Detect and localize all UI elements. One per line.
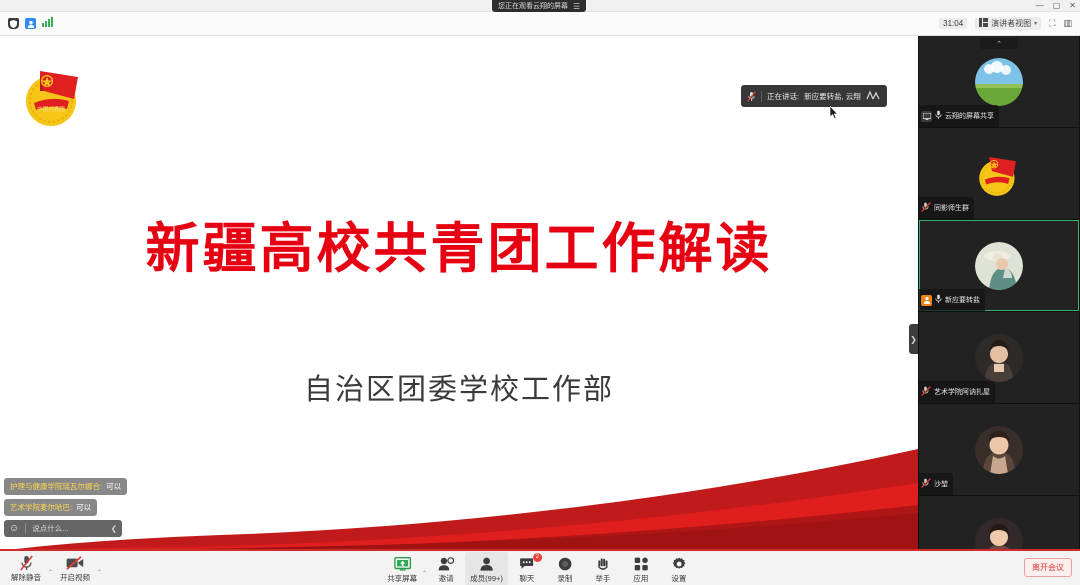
leave-meeting-button[interactable]: 离开会议 [1024, 558, 1072, 577]
control-bar-center: 共享屏幕 ⌃ 邀请 [382, 550, 698, 585]
chat-message-sender: 艺术学院麦尔哈巴: [10, 502, 72, 513]
participants-label: 成员(99+) [470, 573, 503, 584]
speaking-label: 正在讲话: [767, 91, 799, 102]
record-button[interactable]: 录制 [546, 552, 584, 585]
participant-tile[interactable]: 同影师生群 [919, 128, 1079, 219]
avatar [975, 518, 1023, 550]
chat-button[interactable]: 2 聊天 [508, 552, 546, 585]
participant-label: 沙堃 [919, 473, 953, 495]
participant-name: 新应要转盐 [945, 295, 980, 305]
window-controls: — ▢ ✕ [1036, 1, 1076, 11]
hamburger-icon[interactable]: ☰ [573, 2, 580, 11]
participant-name: 云翔的屏幕共享 [945, 111, 994, 121]
chat-unread-badge: 2 [533, 553, 542, 562]
filmstrip-collapse-handle[interactable]: ❯ [909, 324, 918, 354]
slide-subtitle: 自治区团委学校工作部 [0, 366, 918, 408]
participant-name: 沙堃 [934, 479, 948, 489]
viewing-screen-pill[interactable]: 您正在观看云翔的屏幕 ☰ [492, 0, 586, 12]
control-bar-left: 解除静音 ⌃ 开启视频 ⌃ [0, 551, 102, 585]
participant-label: 新应要转盐 [919, 289, 985, 311]
avatar [975, 334, 1023, 382]
slide-decoration-ribbon-2 [0, 461, 918, 549]
apps-grid-icon [634, 556, 648, 572]
speaker-view-icon [979, 18, 988, 29]
participant-label: 艺术学院阿讷扎屋 [919, 381, 995, 403]
video-options-chevron[interactable]: ⌃ [97, 569, 102, 585]
meeting-control-bar: 解除静音 ⌃ 开启视频 ⌃ [0, 549, 1080, 585]
participant-filmstrip[interactable]: ⌃ [918, 36, 1080, 549]
invite-button[interactable]: 邀请 [427, 552, 465, 585]
speaking-names: 新应要转盐, 云翔 [804, 91, 861, 102]
zoom-meeting-window: — ▢ ✕ 您正在观看云翔的屏幕 ☰ [0, 0, 1080, 585]
gear-icon [672, 556, 686, 572]
avatar [975, 150, 1023, 198]
chat-message: 艺术学院麦尔哈巴: 可以 [4, 499, 97, 516]
record-icon [558, 556, 572, 572]
signal-bars-icon [42, 17, 53, 30]
chat-message: 护理与健康学院瑶瓦尔娜合: 可以 [4, 478, 127, 495]
shield-icon[interactable] [8, 18, 19, 29]
start-video-label: 开启视频 [60, 572, 90, 583]
communist-youth-league-emblem: 中国共青团 [20, 61, 88, 129]
avatar [975, 426, 1023, 474]
share-screen-label: 共享屏幕 [387, 573, 417, 584]
split-view-icon[interactable]: ▥ [1063, 18, 1072, 29]
chat-message-sender: 护理与健康学院瑶瓦尔娜合: [10, 481, 102, 492]
mouse-cursor [830, 106, 839, 119]
mic-on-icon [935, 291, 942, 309]
svg-text:中国共青团: 中国共青团 [37, 105, 65, 113]
avatar [975, 242, 1023, 290]
view-mode-switch[interactable]: 演讲者视图 ▾ [975, 17, 1041, 30]
settings-label: 设置 [671, 573, 686, 584]
apps-button[interactable]: 应用 [622, 552, 660, 585]
mic-muted-icon [747, 91, 756, 102]
participant-tile[interactable]: ⌃ [919, 36, 1079, 127]
chat-expand-icon[interactable]: ❮ [111, 524, 117, 533]
view-mode-label: 演讲者视图 [991, 18, 1031, 29]
chat-overlay: 护理与健康学院瑶瓦尔娜合: 可以 艺术学院麦尔哈巴: 可以 ☺ 说点什么... … [4, 478, 127, 537]
divider [25, 523, 26, 534]
mic-muted-icon [921, 199, 931, 217]
share-screen-icon [394, 556, 411, 572]
slide-title: 新疆高校共青团工作解读 [0, 204, 918, 283]
chat-input-placeholder[interactable]: 说点什么... [32, 523, 104, 534]
people-icon[interactable] [25, 18, 36, 29]
chat-bubble-icon [519, 556, 534, 572]
viewing-screen-label: 您正在观看云翔的屏幕 [498, 1, 568, 11]
raise-hand-icon [597, 556, 609, 572]
participant-name: 同影师生群 [934, 203, 969, 213]
mic-muted-icon [20, 555, 33, 571]
participant-name: 艺术学院阿讷扎屋 [934, 387, 990, 397]
unmute-label: 解除静音 [11, 572, 41, 583]
participant-tile[interactable]: 艺术学院阿讷扎屋 [919, 312, 1079, 403]
mic-on-icon [935, 107, 942, 125]
chevron-down-icon[interactable]: ▾ [1034, 20, 1037, 27]
meeting-toolbar-right: 31:04 演讲者视图 ▾ ⛶ ▥ [939, 17, 1080, 30]
smiley-icon[interactable]: ☺ [9, 523, 19, 534]
chat-input-bar[interactable]: ☺ 说点什么... ❮ [4, 520, 122, 537]
invite-person-icon [438, 556, 454, 572]
close-button[interactable]: ✕ [1069, 1, 1076, 11]
participant-tile[interactable]: 沙堃 [919, 404, 1079, 495]
meeting-timer: 31:04 [939, 18, 967, 29]
chat-message-text: 可以 [106, 481, 121, 492]
mic-muted-icon [921, 383, 931, 401]
speaking-waveform-icon [866, 90, 880, 103]
invite-label: 邀请 [439, 573, 454, 584]
share-screen-button[interactable]: 共享屏幕 [382, 552, 422, 585]
participants-button[interactable]: 成员(99+) [465, 552, 508, 585]
raise-hand-button[interactable]: 举手 [584, 552, 622, 585]
filmstrip-scroll-up[interactable]: ⌃ [980, 38, 1018, 49]
avatar [975, 58, 1023, 106]
minimize-button[interactable]: — [1036, 1, 1044, 11]
participants-icon [479, 556, 494, 572]
meeting-toolbar-left [0, 17, 53, 30]
meeting-toolbar: 31:04 演讲者视图 ▾ ⛶ ▥ [0, 12, 1080, 36]
maximize-button[interactable]: ▢ [1053, 1, 1061, 11]
shared-screen-stage[interactable]: 中国共青团 新疆高校共青团工作解读 自治区团委学校工作部 [0, 36, 918, 549]
participant-label: 云翔的屏幕共享 [919, 105, 999, 127]
settings-button[interactable]: 设置 [660, 552, 698, 585]
record-label: 录制 [557, 573, 572, 584]
participant-tile[interactable]: 新应要转盐 [919, 220, 1079, 311]
unmute-button[interactable]: 解除静音 [6, 551, 46, 585]
participant-tile[interactable]: ⌄ [919, 496, 1079, 549]
speaking-indicator: 正在讲话: 新应要转盐, 云翔 [741, 85, 887, 107]
apps-label: 应用 [633, 573, 648, 584]
start-video-button[interactable]: 开启视频 [55, 551, 95, 585]
divider [761, 91, 762, 102]
audio-options-chevron[interactable]: ⌃ [48, 569, 53, 585]
host-icon [921, 295, 932, 306]
mic-muted-icon [921, 475, 931, 493]
presentation-slide: 中国共青团 新疆高校共青团工作解读 自治区团委学校工作部 [0, 36, 918, 549]
video-off-icon [66, 555, 84, 571]
raise-hand-label: 举手 [595, 573, 610, 584]
fullscreen-icon[interactable]: ⛶ [1049, 18, 1055, 29]
screen-share-icon [921, 111, 932, 122]
participant-label: 同影师生群 [919, 197, 974, 219]
chat-label: 聊天 [519, 573, 534, 584]
chat-message-text: 可以 [76, 502, 91, 513]
